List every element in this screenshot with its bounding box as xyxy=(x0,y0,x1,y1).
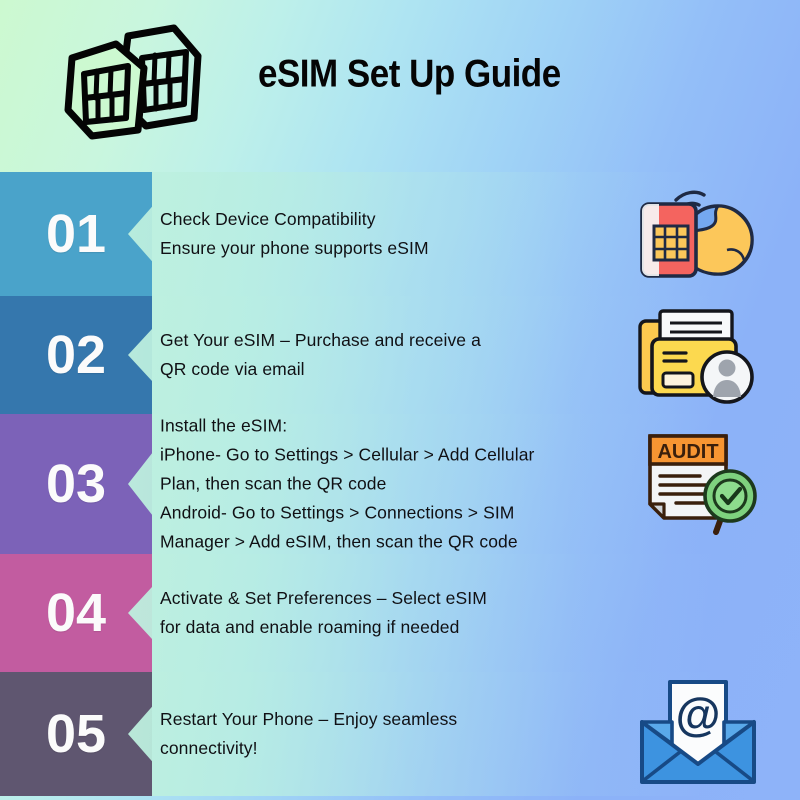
at-symbol: @ xyxy=(676,688,721,740)
step-number: 05 xyxy=(46,707,106,761)
step-number: 04 xyxy=(46,586,106,640)
steps-list: 01 Check Device Compatibility Ensure you… xyxy=(0,172,800,796)
step-text-line: Android- Go to Settings > Connections > … xyxy=(160,499,600,528)
step-description: Install the eSIM: iPhone- Go to Settings… xyxy=(160,412,600,557)
sim-card-globe-signal-icon xyxy=(632,178,764,290)
step-row: 03 Install the eSIM: iPhone- Go to Setti… xyxy=(0,414,800,554)
step-text-line: Install the eSIM: xyxy=(160,412,600,441)
step-text-line: connectivity! xyxy=(160,734,580,763)
header: eSIM Set Up Guide xyxy=(0,0,800,168)
step-text-line: QR code via email xyxy=(160,355,580,384)
step-description: Check Device Compatibility Ensure your p… xyxy=(160,205,580,263)
step-text-line: Manager > Add eSIM, then scan the QR cod… xyxy=(160,528,600,557)
dual-sim-cards-icon xyxy=(58,22,210,146)
step-description: Restart Your Phone – Enjoy seamless conn… xyxy=(160,705,580,763)
audit-label: AUDIT xyxy=(657,441,718,463)
step-row: 05 Restart Your Phone – Enjoy seamless c… xyxy=(0,672,800,796)
folder-user-profile-icon xyxy=(632,299,764,411)
step-text-line: Restart Your Phone – Enjoy seamless xyxy=(160,705,580,734)
step-number: 01 xyxy=(46,207,106,261)
step-text-line: Get Your eSIM – Purchase and receive a xyxy=(160,326,580,355)
step-text-line: for data and enable roaming if needed xyxy=(160,613,580,642)
page-title: eSIM Set Up Guide xyxy=(258,44,678,104)
step-row: 01 Check Device Compatibility Ensure you… xyxy=(0,172,800,296)
envelope-at-symbol-icon: @ xyxy=(632,678,764,790)
step-text-line: iPhone- Go to Settings > Cellular > Add … xyxy=(160,441,600,470)
step-description: Activate & Set Preferences – Select eSIM… xyxy=(160,584,580,642)
step-text-line: Ensure your phone supports eSIM xyxy=(160,234,580,263)
audit-document-check-magnifier-icon: AUDIT xyxy=(632,428,764,540)
step-text-line: Check Device Compatibility xyxy=(160,205,580,234)
step-number: 03 xyxy=(46,457,106,511)
step-row: 04 Activate & Set Preferences – Select e… xyxy=(0,554,800,672)
step-description: Get Your eSIM – Purchase and receive a Q… xyxy=(160,326,580,384)
step-text-line: Activate & Set Preferences – Select eSIM xyxy=(160,584,580,613)
step-text-line: Plan, then scan the QR code xyxy=(160,470,600,499)
step-number: 02 xyxy=(46,328,106,382)
step-row: 02 Get Your eSIM – Purchase and receive … xyxy=(0,296,800,414)
